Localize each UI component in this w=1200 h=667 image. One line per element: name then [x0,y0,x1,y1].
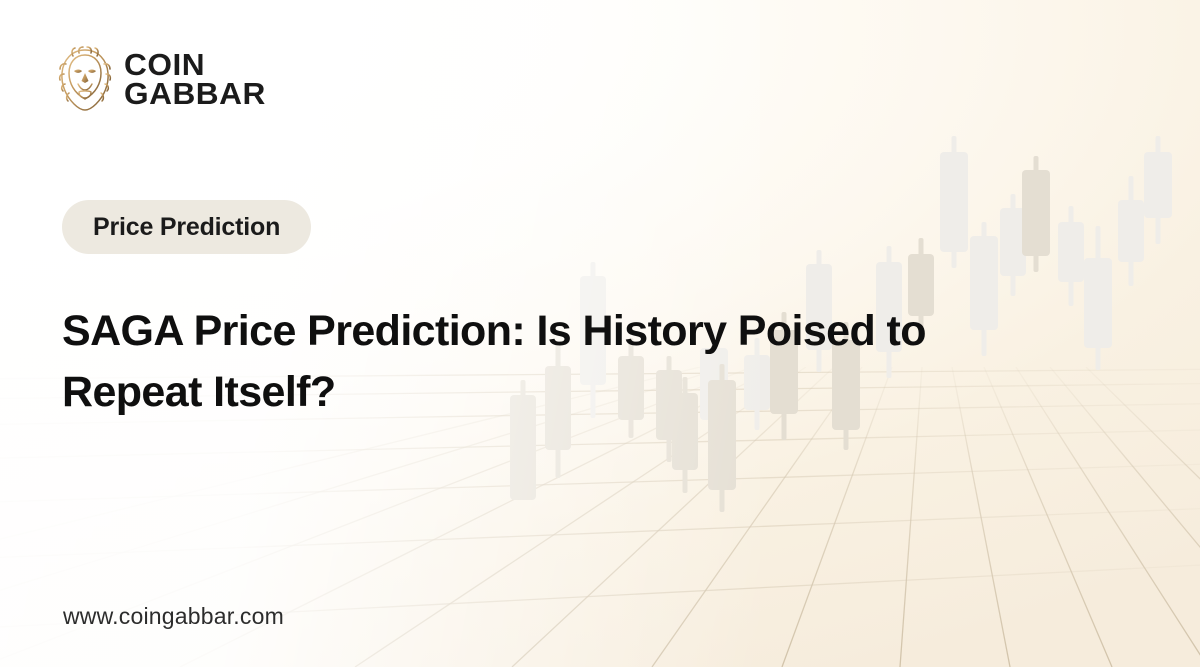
logo-wordmark: COIN GABBAR [124,51,263,108]
category-badge[interactable]: Price Prediction [62,200,311,254]
coingabbar-logo[interactable]: COIN GABBAR [58,46,263,114]
price-prediction-banner: COIN GABBAR Price Prediction SAGA Price … [0,0,1200,667]
candlestick-body [1144,152,1172,218]
category-badge-label: Price Prediction [93,213,280,242]
candlestick-body [1058,222,1084,282]
lion-head-icon [58,46,112,114]
candlestick-wick [1069,206,1074,306]
candlestick [1000,194,1026,296]
candlestick-wick [1129,176,1134,286]
candlestick-wick [1011,194,1016,296]
candlestick-wick [1156,136,1161,244]
candlestick-body [1000,208,1026,276]
candlestick-body [1118,200,1144,262]
candlestick [940,136,968,268]
site-url: www.coingabbar.com [63,603,284,630]
candlestick [1022,156,1050,272]
logo-text-gabbar: GABBAR [124,80,266,109]
candlestick [1058,206,1084,306]
candlestick-body [1022,170,1050,256]
candlestick-body [1084,258,1112,348]
candlestick-body [940,152,968,252]
candlestick-wick [952,136,957,268]
candlestick [1084,226,1112,370]
candlestick-wick [1096,226,1101,370]
candlestick [1118,176,1144,286]
page-title: SAGA Price Prediction: Is History Poised… [62,301,1072,423]
candlestick-wick [1034,156,1039,272]
candlestick [1144,136,1172,244]
